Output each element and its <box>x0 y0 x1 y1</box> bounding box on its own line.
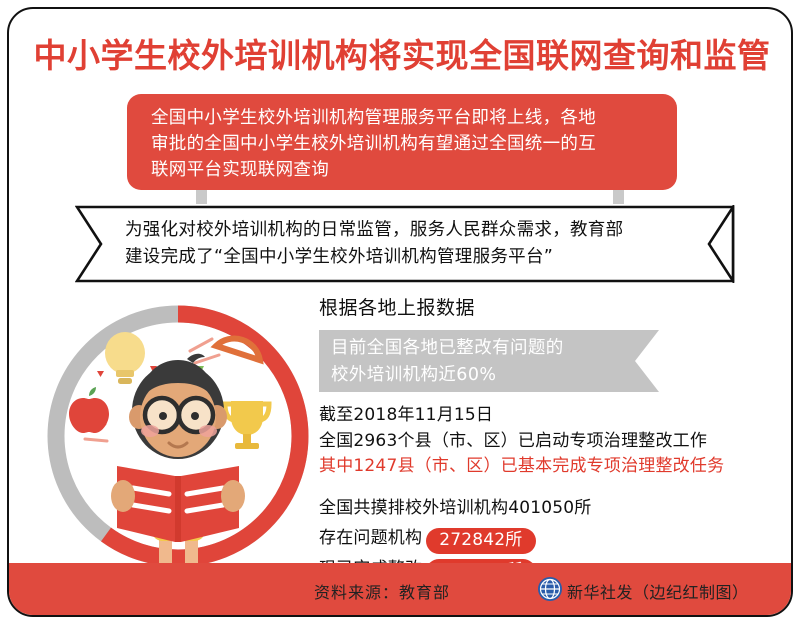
callout-line-3: 联网平台实现联网查询 <box>151 157 655 183</box>
lightbulb-icon <box>105 332 145 384</box>
credit-text: 新华社发（边纪红制图） <box>567 579 749 603</box>
apple-icon <box>69 387 109 433</box>
globe-logo-icon <box>537 576 563 606</box>
infographic-frame: 中小学生校外培训机构将实现全国联网查询和监管 全国中小学生校外培训机构管理服务平… <box>7 7 793 617</box>
highlight-line-2: 校外培训机构近60% <box>331 362 564 389</box>
problem-institutions-row: 存在问题机构272842所 <box>319 523 739 554</box>
data-lead-text: 根据各地上报数据 <box>319 295 739 321</box>
progress-stats-block: 截至2018年11月15日 全国2963个县（市、区）已启动专项治理整改工作 其… <box>319 403 739 480</box>
page-title: 中小学生校外培训机构将实现全国联网查询和监管 <box>9 39 793 72</box>
ribbon-line-1: 为强化对校外培训机构的日常监管，服务人民群众需求，教育部 <box>125 217 623 244</box>
connector-tab-right <box>613 190 624 204</box>
ribbon-banner: 为强化对校外培训机构的日常监管，服务人民群众需求，教育部 建设完成了“全国中小学… <box>75 205 735 283</box>
highlight-line-1: 目前全国各地已整改有问题的 <box>331 335 564 362</box>
total-institutions-line: 全国共摸排校外培训机构401050所 <box>319 493 739 523</box>
connector-tab-left <box>196 190 207 204</box>
counties-started-line: 全国2963个县（市、区）已启动专项治理整改工作 <box>319 429 739 455</box>
infographic-root: 中小学生校外培训机构将实现全国联网查询和监管 全国中小学生校外培训机构管理服务平… <box>0 0 800 624</box>
callout-line-2: 审批的全国中小学生校外培训机构有望通过全国统一的互 <box>151 131 655 157</box>
ribbon-line-2: 建设完成了“全国中小学生校外培训机构管理服务平台” <box>125 244 623 271</box>
trophy-icon <box>225 401 269 449</box>
callout-line-1: 全国中小学生校外培训机构管理服务平台即将上线，各地 <box>151 105 655 131</box>
problem-label: 存在问题机构 <box>319 528 422 548</box>
data-column: 根据各地上报数据 目前全国各地已整改有问题的 校外培训机构近60% 截至2018… <box>319 295 739 585</box>
highlight-banner: 目前全国各地已整改有问题的 校外培训机构近60% <box>319 330 659 392</box>
ribbon-text: 为强化对校外培训机构的日常监管，服务人民群众需求，教育部 建设完成了“全国中小学… <box>125 217 623 271</box>
footer-bar: 资料来源：教育部 新华社发（边纪红制图） <box>9 563 793 615</box>
date-line: 截至2018年11月15日 <box>319 403 739 429</box>
source-text: 资料来源：教育部 <box>314 579 450 603</box>
problem-value-badge: 272842所 <box>426 528 535 554</box>
summary-callout: 全国中小学生校外培训机构管理服务平台即将上线，各地 审批的全国中小学生校外培训机… <box>127 94 677 190</box>
child-reading-illustration-icon <box>47 291 309 581</box>
counties-completed-line: 其中1247县（市、区）已基本完成专项治理整改任务 <box>319 454 739 480</box>
